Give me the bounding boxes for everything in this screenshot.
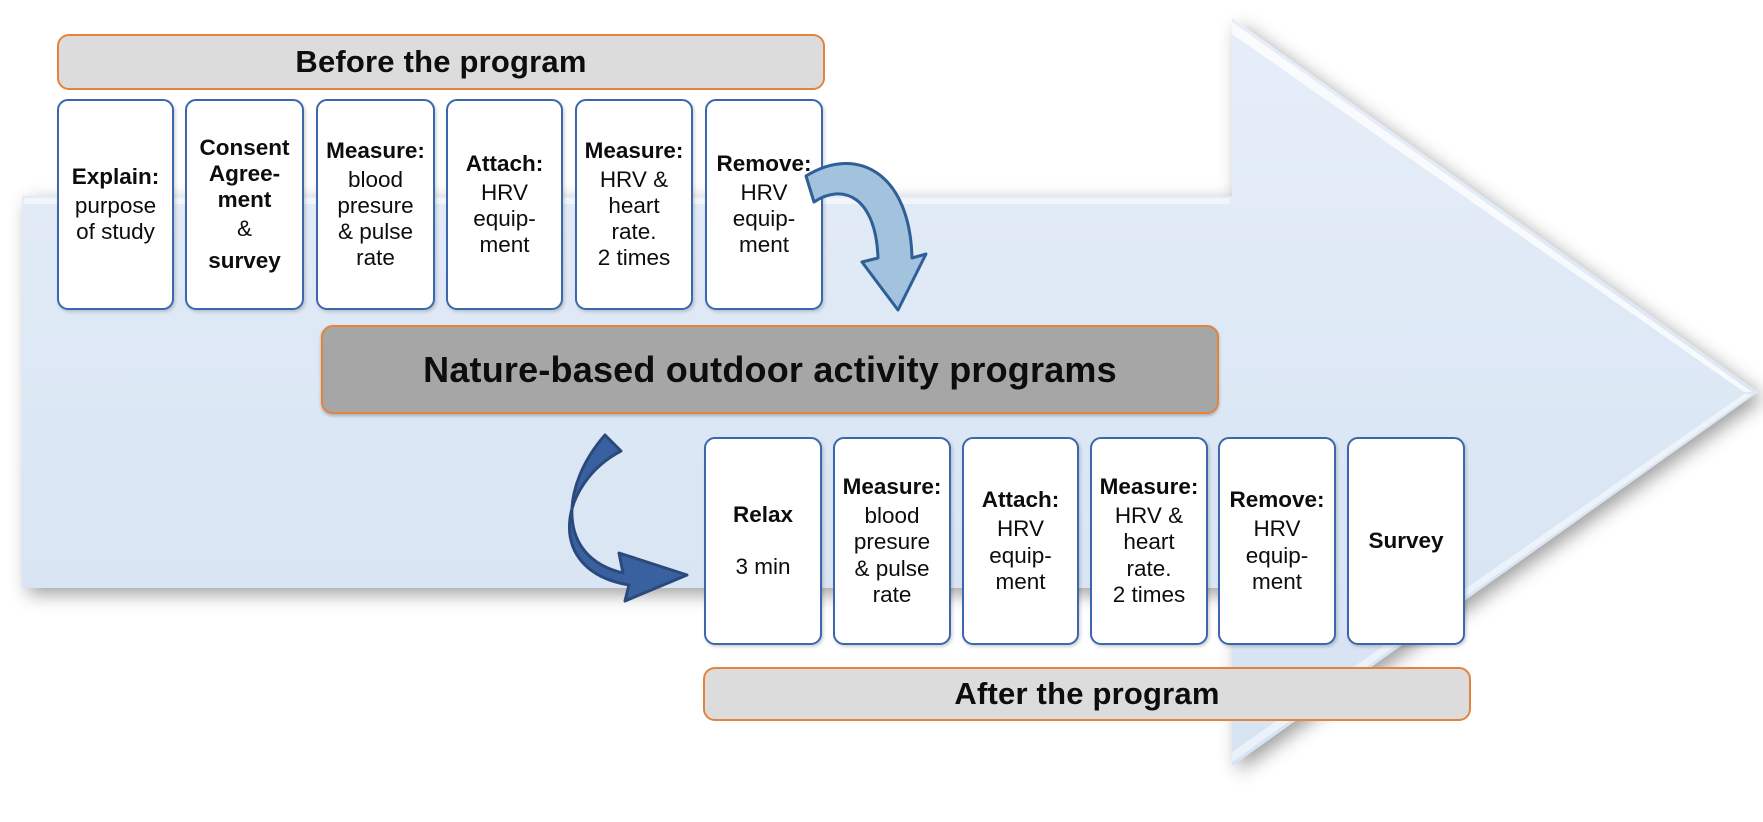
step-box-attach-hrv-before[interactable]: Attach: HRV equip- ment: [446, 99, 563, 310]
after-steps-row: Relax 3 min Measure: blood presure & pul…: [0, 437, 1763, 645]
step-head: Measure:: [843, 474, 942, 500]
banner-before-label: Before the program: [295, 44, 586, 80]
step-head: Consent Agree- ment: [200, 135, 290, 213]
step-head: Remove:: [716, 151, 811, 177]
step-box-explain[interactable]: Explain: purpose of study: [57, 99, 174, 310]
banner-after-the-program: After the program: [703, 667, 1471, 721]
step-box-survey[interactable]: Survey: [1347, 437, 1465, 645]
step-body: HRV & heart rate. 2 times: [1113, 503, 1186, 607]
step-box-relax[interactable]: Relax 3 min: [704, 437, 822, 645]
step-body: blood presure & pulse rate: [854, 503, 930, 607]
step-box-consent[interactable]: Consent Agree- ment & survey: [185, 99, 304, 310]
step-head: Survey: [1368, 528, 1443, 554]
step-head: Attach:: [466, 151, 544, 177]
banner-before-the-program: Before the program: [57, 34, 825, 90]
step-body: HRV & heart rate. 2 times: [598, 167, 671, 271]
step-foot: survey: [208, 248, 281, 274]
step-body: HRV equip- ment: [989, 516, 1052, 594]
step-body: HRV equip- ment: [733, 180, 796, 258]
step-head: Measure:: [585, 138, 684, 164]
step-head: Measure:: [326, 138, 425, 164]
step-box-measure-bp-before[interactable]: Measure: blood presure & pulse rate: [316, 99, 435, 310]
step-box-measure-hrv-after[interactable]: Measure: HRV & heart rate. 2 times: [1090, 437, 1208, 645]
step-body: 3 min: [735, 554, 790, 580]
step-body: blood presure & pulse rate: [337, 167, 413, 271]
banner-nature-based-program: Nature-based outdoor activity programs: [321, 325, 1219, 414]
step-body: HRV equip- ment: [1246, 516, 1309, 594]
step-head: Measure:: [1100, 474, 1199, 500]
step-head: Attach:: [982, 487, 1060, 513]
step-box-attach-hrv-after[interactable]: Attach: HRV equip- ment: [962, 437, 1079, 645]
step-head: Explain:: [72, 164, 160, 190]
banner-program-label: Nature-based outdoor activity programs: [423, 349, 1117, 391]
diagram-canvas: Before the program Explain: purpose of s…: [0, 0, 1763, 822]
step-box-measure-bp-after[interactable]: Measure: blood presure & pulse rate: [833, 437, 951, 645]
step-body: &: [237, 216, 252, 242]
step-box-measure-hrv-before[interactable]: Measure: HRV & heart rate. 2 times: [575, 99, 693, 310]
step-head: Relax: [733, 502, 793, 528]
connector-arrow-before-to-program: [800, 150, 930, 325]
banner-after-label: After the program: [954, 676, 1219, 712]
step-box-remove-hrv-after[interactable]: Remove: HRV equip- ment: [1218, 437, 1336, 645]
step-head: Remove:: [1229, 487, 1324, 513]
step-body: HRV equip- ment: [473, 180, 536, 258]
step-body: purpose of study: [75, 193, 156, 245]
